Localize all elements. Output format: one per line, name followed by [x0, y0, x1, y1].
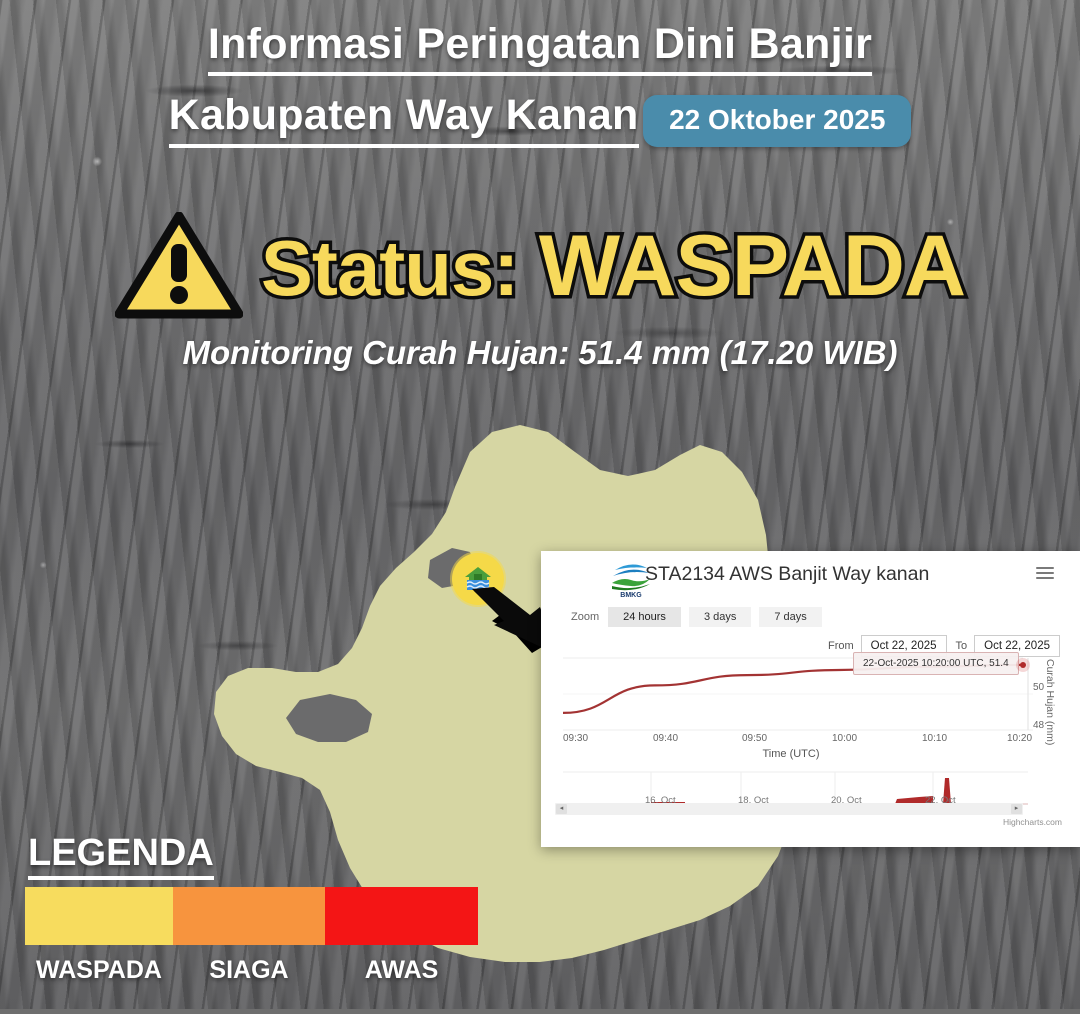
range-button-7-days[interactable]: 7 days — [759, 607, 821, 627]
legend-color-bar — [25, 887, 478, 945]
x-axis-title: Time (UTC) — [541, 748, 1041, 760]
series-endpoint-marker — [1016, 658, 1030, 672]
highcharts-credit[interactable]: Highcharts.com — [1003, 817, 1062, 827]
status-value: WASPADA — [539, 218, 965, 314]
status-prefix: Status: — [261, 224, 518, 312]
legend-label-siaga: SIAGA — [173, 956, 325, 985]
legend-labels: WASPADA SIAGA AWAS — [25, 956, 478, 985]
legend-swatch-waspada — [25, 887, 173, 945]
legend-swatch-awas — [325, 887, 478, 945]
x-tick-2: 09:50 — [742, 733, 767, 744]
x-tick-4: 10:10 — [922, 733, 947, 744]
legend-swatch-siaga — [173, 887, 325, 945]
legend-label-awas: AWAS — [325, 956, 478, 985]
navigator-scrollbar[interactable]: ◂ ▸ — [555, 803, 1023, 815]
x-tick-5: 10:20 — [1007, 733, 1032, 744]
x-tick-0: 09:30 — [563, 733, 588, 744]
range-button-24-hours[interactable]: 24 hours — [608, 607, 681, 627]
x-tick-1: 09:40 — [653, 733, 678, 744]
chart-header: BMKG STA2134 AWS Banjit Way kanan — [541, 551, 1080, 603]
chart-plot-area[interactable]: 22-Oct-2025 10:20:00 UTC, 51.4 50 48 — [563, 656, 1023, 730]
hamburger-menu-icon[interactable] — [1036, 567, 1054, 581]
chart-panel: BMKG STA2134 AWS Banjit Way kanan Zoom 2… — [541, 551, 1080, 847]
scroll-right-button[interactable]: ▸ — [1011, 804, 1022, 814]
scroll-left-button[interactable]: ◂ — [556, 804, 567, 814]
warning-triangle-icon — [115, 212, 243, 320]
y-axis-title: Curah Hujan (mm) — [1039, 659, 1055, 745]
status-row: Status: WASPADA — [0, 212, 1080, 320]
page-title-line-1: Informasi Peringatan Dini Banjir — [208, 18, 872, 76]
zoom-label: Zoom — [571, 611, 599, 623]
legend-label-waspada: WASPADA — [25, 956, 173, 985]
chart-tooltip: 22-Oct-2025 10:20:00 UTC, 51.4 — [853, 652, 1019, 675]
zoom-range-selector: Zoom 24 hours 3 days 7 days — [571, 607, 830, 627]
monitoring-text: Monitoring Curah Hujan: 51.4 mm (17.20 W… — [0, 334, 1080, 372]
status-headline: Status: WASPADA — [261, 223, 965, 309]
from-label: From — [828, 640, 854, 652]
range-button-3-days[interactable]: 3 days — [689, 607, 751, 627]
to-label: To — [956, 640, 968, 652]
chart-title: STA2134 AWS Banjit Way kanan — [645, 563, 929, 586]
svg-text:BMKG: BMKG — [620, 592, 642, 599]
header: Informasi Peringatan Dini Banjir Kabupat… — [0, 0, 1080, 148]
legend-title: LEGENDA — [28, 832, 214, 880]
date-badge: 22 Oktober 2025 — [643, 95, 911, 147]
x-tick-3: 10:00 — [832, 733, 857, 744]
page-title-line-2: Kabupaten Way Kanan — [169, 89, 639, 147]
